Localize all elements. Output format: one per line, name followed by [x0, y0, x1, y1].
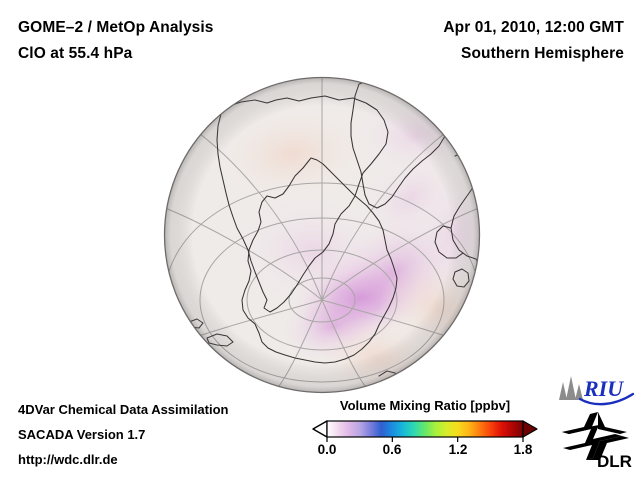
dlr-logo: DLR: [557, 410, 637, 470]
title-datetime: Apr 01, 2010, 12:00 GMT: [443, 19, 624, 37]
colorbar-title: Volume Mixing Ratio [ppbv]: [305, 398, 545, 413]
orthographic-projection: [163, 76, 481, 394]
title-instrument: GOME–2 / MetOp Analysis: [18, 19, 214, 37]
globe-limb-shading: [165, 78, 480, 393]
riu-wordmark: RIU: [583, 376, 624, 401]
figure-canvas: GOME–2 / MetOp Analysis ClO at 55.4 hPa …: [0, 0, 640, 480]
colorbar-ticks: [327, 437, 523, 442]
colorbar-ramp: [327, 421, 523, 437]
footer-version: SACADA Version 1.7: [18, 427, 145, 442]
dlr-wordmark: DLR: [597, 452, 632, 470]
globe-map: [163, 76, 481, 394]
colorbar-tick-3: 1.8: [501, 442, 545, 457]
footer-url[interactable]: http://wdc.dlr.de: [18, 452, 118, 467]
colorbar: Volume Mixing Ratio [ppbv] 0.0 0.6 1.2 1…: [305, 398, 545, 468]
colorbar-tick-2: 1.2: [436, 442, 480, 457]
colorbar-low-cap: [313, 421, 327, 437]
title-hemisphere: Southern Hemisphere: [461, 45, 624, 63]
riu-logo: RIU: [556, 372, 636, 408]
footer-method: 4DVar Chemical Data Assimilation: [18, 402, 229, 417]
riu-tower-icon: [559, 376, 583, 400]
colorbar-gradient-bar: [305, 419, 545, 443]
colorbar-tick-1: 0.6: [370, 442, 414, 457]
colorbar-high-cap: [523, 421, 537, 437]
title-species-level: ClO at 55.4 hPa: [18, 45, 132, 63]
colorbar-tick-0: 0.0: [305, 442, 349, 457]
